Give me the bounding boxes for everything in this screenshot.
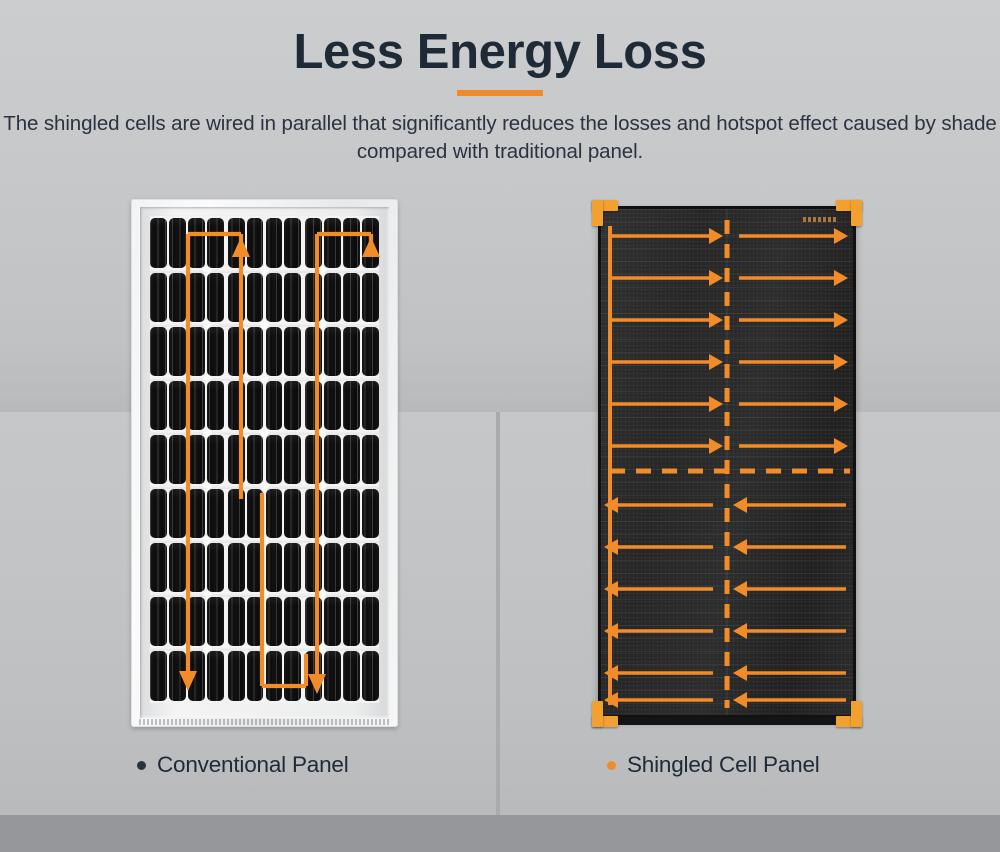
conventional-cell-row [150, 543, 379, 592]
conventional-panel-laminate [150, 216, 379, 703]
conventional-solar-cell [207, 489, 224, 538]
conventional-solar-cell [247, 435, 264, 484]
conventional-solar-cell [188, 273, 205, 322]
conventional-solar-cell [324, 543, 341, 592]
conventional-panel-spec-label [139, 719, 390, 725]
conventional-solar-cell [305, 651, 322, 700]
conventional-solar-cell [324, 489, 341, 538]
conventional-solar-cell [188, 435, 205, 484]
conventional-solar-cell [150, 651, 167, 700]
conventional-solar-cell [188, 489, 205, 538]
conventional-solar-cell [362, 381, 379, 430]
conventional-solar-cell [324, 273, 341, 322]
conventional-solar-cell [284, 218, 301, 267]
conventional-solar-cell [324, 218, 341, 267]
page-subtitle: The shingled cells are wired in parallel… [0, 110, 1000, 167]
page-title: Less Energy Loss [0, 24, 1000, 80]
conventional-solar-cell [169, 489, 186, 538]
conventional-solar-cell [284, 327, 301, 376]
conventional-solar-cell [228, 651, 245, 700]
conventional-solar-cell [284, 651, 301, 700]
conventional-solar-cell [150, 435, 167, 484]
conventional-solar-cell [266, 381, 283, 430]
conventional-solar-cell [324, 597, 341, 646]
shingled-panel-center-seam [726, 209, 728, 715]
conventional-solar-cell [324, 327, 341, 376]
conventional-solar-cell [228, 327, 245, 376]
conventional-solar-cell [207, 273, 224, 322]
conventional-solar-cell [305, 435, 322, 484]
conventional-solar-cell [266, 327, 283, 376]
conventional-solar-cell [207, 543, 224, 592]
conventional-solar-cell [228, 381, 245, 430]
background-bottom-strip [0, 815, 1000, 852]
shingled-panel-illustration [592, 200, 862, 727]
conventional-solar-cell [266, 273, 283, 322]
conventional-solar-cell [266, 218, 283, 267]
caption-shingled-label: Shingled Cell Panel [627, 752, 820, 778]
corner-bracket-top-right [836, 200, 862, 226]
conventional-solar-cell [247, 381, 264, 430]
conventional-solar-cell [188, 597, 205, 646]
conventional-solar-cell [169, 435, 186, 484]
conventional-solar-cell [305, 218, 322, 267]
conventional-solar-cell [284, 273, 301, 322]
conventional-solar-cell [150, 327, 167, 376]
bullet-orange-icon [607, 761, 616, 770]
conventional-solar-cell [207, 218, 224, 267]
conventional-solar-cell [150, 273, 167, 322]
conventional-solar-cell [343, 327, 360, 376]
conventional-solar-cell [169, 651, 186, 700]
conventional-cell-row [150, 489, 379, 538]
conventional-cell-row [150, 435, 379, 484]
conventional-solar-cell [150, 543, 167, 592]
corner-bracket-bottom-right [836, 701, 862, 727]
conventional-solar-cell [169, 273, 186, 322]
conventional-solar-cell [247, 218, 264, 267]
caption-conventional-label: Conventional Panel [157, 752, 349, 778]
conventional-solar-cell [324, 435, 341, 484]
conventional-solar-cell [343, 597, 360, 646]
conventional-solar-cell [228, 489, 245, 538]
conventional-solar-cell [228, 435, 245, 484]
conventional-cell-row [150, 327, 379, 376]
conventional-solar-cell [150, 489, 167, 538]
conventional-solar-cell [188, 327, 205, 376]
conventional-solar-cell [284, 435, 301, 484]
bullet-dark-icon [137, 761, 146, 770]
conventional-solar-cell [150, 597, 167, 646]
conventional-cell-row [150, 651, 379, 700]
conventional-solar-cell [266, 597, 283, 646]
conventional-solar-cell [305, 381, 322, 430]
background-column-divider [496, 412, 500, 815]
conventional-solar-cell [362, 597, 379, 646]
conventional-cell-row [150, 273, 379, 322]
conventional-solar-cell [284, 543, 301, 592]
conventional-solar-cell [188, 543, 205, 592]
conventional-solar-cell [305, 327, 322, 376]
conventional-solar-cell [362, 218, 379, 267]
conventional-solar-cell [266, 435, 283, 484]
conventional-solar-cell [169, 543, 186, 592]
conventional-solar-cell [284, 489, 301, 538]
conventional-solar-cell [305, 597, 322, 646]
conventional-solar-cell [207, 381, 224, 430]
conventional-solar-cell [362, 327, 379, 376]
conventional-solar-cell [266, 651, 283, 700]
conventional-solar-cell [188, 651, 205, 700]
corner-bracket-top-left [592, 200, 618, 226]
conventional-cell-row [150, 381, 379, 430]
conventional-solar-cell [343, 543, 360, 592]
shingled-panel-body [598, 206, 856, 718]
conventional-solar-cell [169, 327, 186, 376]
conventional-solar-cell [362, 489, 379, 538]
conventional-solar-cell [228, 543, 245, 592]
conventional-solar-cell [343, 435, 360, 484]
caption-shingled-panel: Shingled Cell Panel [607, 752, 820, 778]
conventional-solar-cell [150, 381, 167, 430]
conventional-cell-row [150, 597, 379, 646]
conventional-solar-cell [362, 543, 379, 592]
corner-bracket-bottom-left [592, 701, 618, 727]
shingled-panel-spec-label [803, 217, 837, 222]
conventional-solar-cell [305, 543, 322, 592]
conventional-solar-cell [247, 651, 264, 700]
conventional-solar-cell [207, 651, 224, 700]
conventional-panel-illustration [131, 199, 398, 727]
conventional-solar-cell [343, 218, 360, 267]
conventional-solar-cell [305, 273, 322, 322]
caption-conventional-panel: Conventional Panel [137, 752, 349, 778]
conventional-solar-cell [362, 273, 379, 322]
conventional-solar-cell [247, 327, 264, 376]
conventional-solar-cell [266, 543, 283, 592]
conventional-cell-row [150, 218, 379, 267]
conventional-solar-cell [247, 597, 264, 646]
conventional-solar-cell [188, 218, 205, 267]
conventional-solar-cell [266, 489, 283, 538]
title-accent-rule [457, 90, 543, 96]
conventional-solar-cell [247, 489, 264, 538]
conventional-solar-cell [169, 381, 186, 430]
conventional-solar-cell [188, 381, 205, 430]
conventional-solar-cell [169, 597, 186, 646]
conventional-solar-cell [228, 273, 245, 322]
shingled-panel-bottom-edge [600, 717, 854, 725]
conventional-solar-cell [362, 435, 379, 484]
header: Less Energy Loss The shingled cells are … [0, 0, 1000, 180]
conventional-solar-cell [207, 327, 224, 376]
conventional-solar-cell [169, 218, 186, 267]
conventional-solar-cell [284, 381, 301, 430]
conventional-solar-cell [207, 435, 224, 484]
conventional-solar-cell [228, 597, 245, 646]
conventional-solar-cell [150, 218, 167, 267]
conventional-solar-cell [284, 597, 301, 646]
conventional-solar-cell [343, 381, 360, 430]
conventional-solar-cell [247, 273, 264, 322]
conventional-solar-cell [343, 651, 360, 700]
conventional-solar-cell [343, 273, 360, 322]
conventional-solar-cell [247, 543, 264, 592]
conventional-solar-cell [362, 651, 379, 700]
conventional-solar-cell [343, 489, 360, 538]
conventional-solar-cell [324, 381, 341, 430]
conventional-solar-cell [207, 597, 224, 646]
conventional-solar-cell [228, 218, 245, 267]
conventional-solar-cell [305, 489, 322, 538]
conventional-solar-cell [324, 651, 341, 700]
